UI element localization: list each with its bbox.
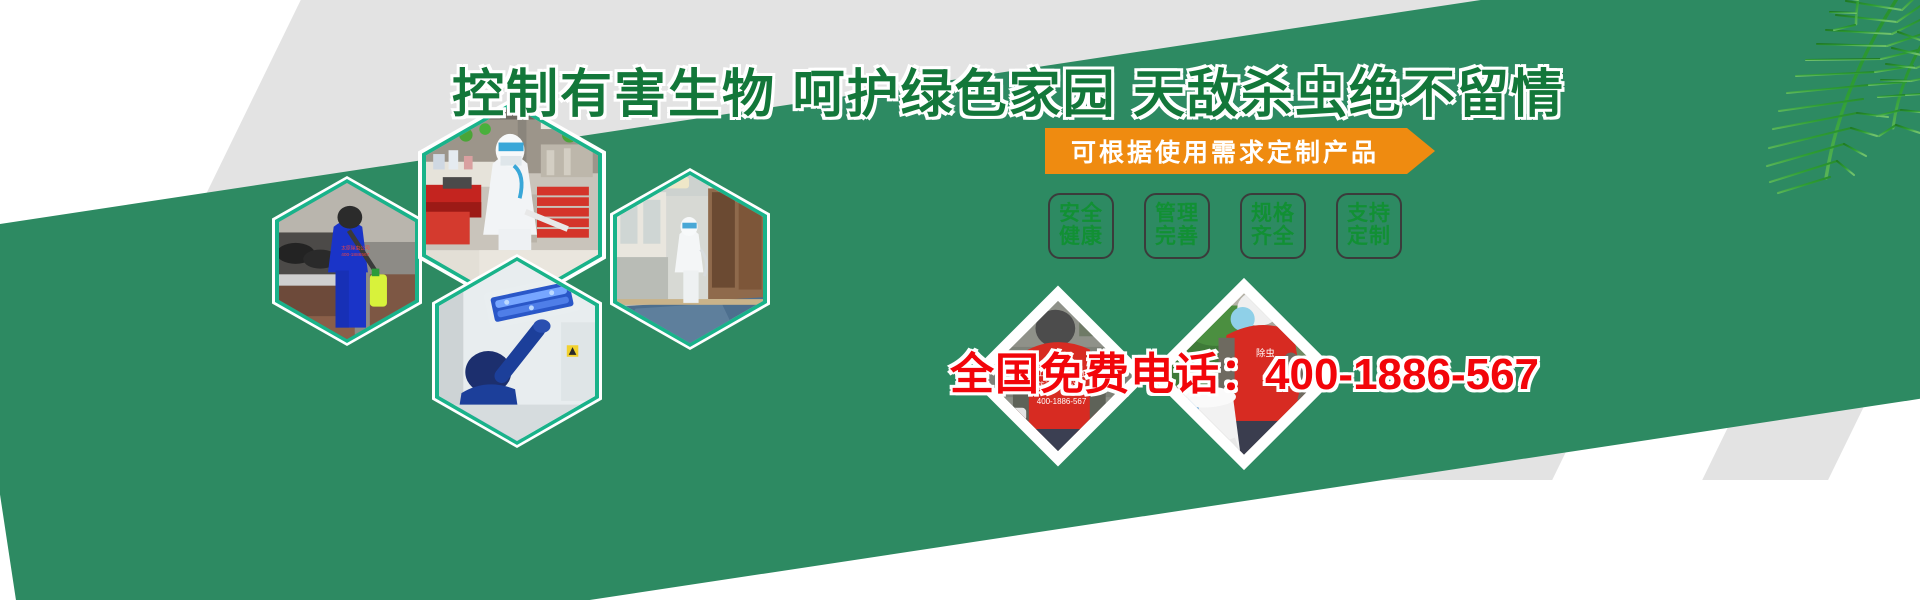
phone-number: 400-1886-567 [1265, 350, 1539, 399]
promotional-banner: 太原除虫公司 400-1886567 [0, 0, 1920, 600]
badge-customization[interactable]: 支持 定制 [1336, 193, 1402, 259]
ribbon-label: 可根据使用需求定制产品 [1071, 133, 1379, 169]
feature-badge-list: 安全 健康 管理 完善 规格 齐全 支持 定制 [1048, 193, 1402, 259]
badge-line2: 健康 [1059, 226, 1103, 249]
badge-line2: 齐全 [1251, 226, 1295, 249]
svg-text:400-1886567: 400-1886567 [341, 252, 369, 258]
badge-safety[interactable]: 安全 健康 [1048, 193, 1114, 259]
contact-phone-line: 全国免费电话：400-1886-567 [950, 338, 1539, 402]
custom-product-ribbon: 可根据使用需求定制产品 [1045, 128, 1435, 174]
uv-lamp-installation-worker-photo [439, 261, 595, 441]
badge-management[interactable]: 管理 完善 [1144, 193, 1210, 259]
badge-line1: 支持 [1347, 203, 1391, 226]
badge-line1: 安全 [1059, 203, 1103, 226]
badge-specification[interactable]: 规格 齐全 [1240, 193, 1306, 259]
hospital-corridor-disinfection-photo [617, 175, 763, 343]
page-title: 控制有害生物 呵护绿色家园 天敌杀虫绝不留情 [452, 52, 1565, 127]
kitchen-spraying-technician-photo: 太原除虫公司 400-1886567 [279, 183, 415, 339]
phone-label: 全国免费电话： [950, 350, 1265, 399]
palm-leaf-icon [1630, 0, 1920, 210]
badge-line1: 管理 [1155, 203, 1199, 226]
badge-line2: 完善 [1155, 226, 1199, 249]
badge-line2: 定制 [1347, 226, 1391, 249]
badge-line1: 规格 [1251, 203, 1295, 226]
